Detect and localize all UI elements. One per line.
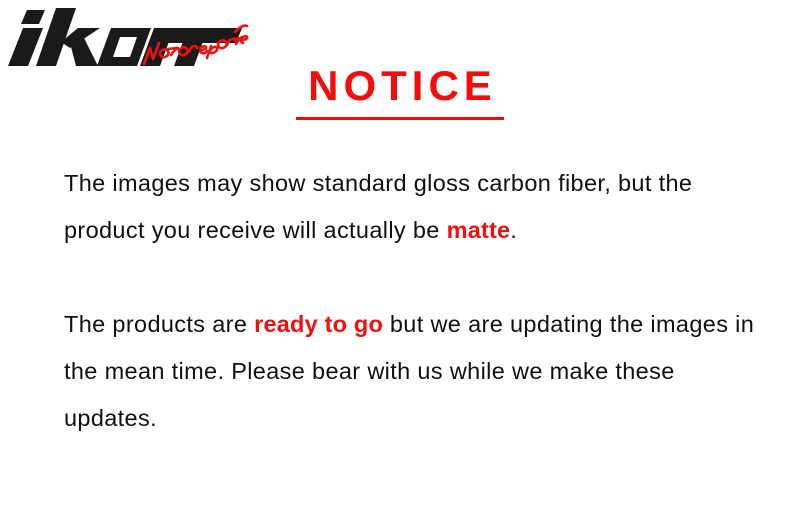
notice-heading-block: NOTICE [0, 62, 800, 120]
paragraph-1-text-before: The images may show standard gloss carbo… [64, 170, 692, 243]
page-title: NOTICE [303, 62, 497, 114]
paragraph-2-text-before: The products are [64, 311, 254, 337]
paragraph-spacer [64, 254, 764, 301]
title-underline [296, 117, 504, 120]
notice-page: NOTICE The images may show standard glos… [0, 0, 800, 510]
notice-paragraph-2: The products are ready to go but we are … [64, 301, 764, 442]
paragraph-1-text-after: . [510, 217, 517, 243]
notice-body: The images may show standard gloss carbo… [64, 160, 764, 442]
notice-paragraph-1: The images may show standard gloss carbo… [64, 160, 764, 254]
paragraph-1-highlight: matte [447, 217, 511, 243]
paragraph-2-highlight: ready to go [254, 311, 383, 337]
